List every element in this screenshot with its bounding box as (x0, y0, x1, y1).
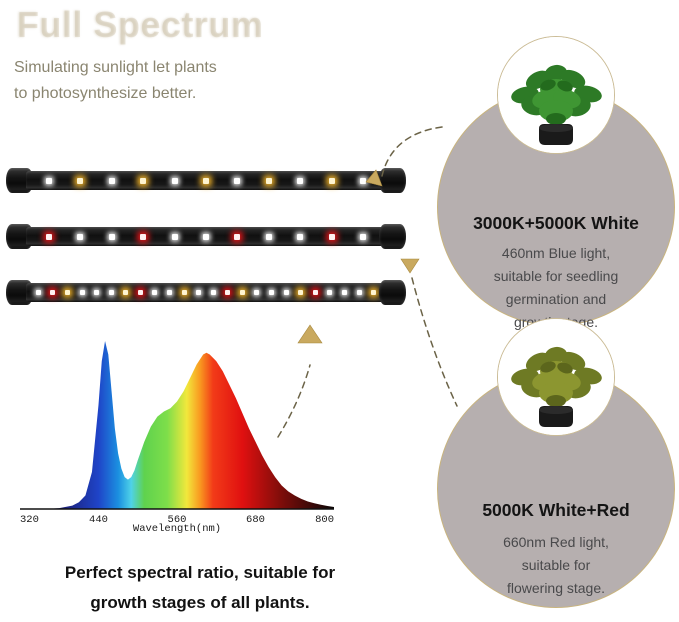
x-tick-800: 800 (315, 514, 334, 526)
led-red (329, 234, 335, 240)
x-axis-title: Wavelength(nm) (133, 523, 221, 533)
bar-tube (26, 283, 386, 302)
led-white (172, 234, 178, 240)
led-white (203, 234, 209, 240)
bar-end-cap-right (379, 224, 406, 249)
plant-illustration-green (498, 37, 614, 153)
led-amber (240, 290, 245, 295)
led-amber (77, 178, 83, 184)
led-white (109, 290, 114, 295)
led-white (266, 234, 272, 240)
plant-illustration-olive (498, 319, 614, 435)
callout-title: 5000K White+Red (437, 500, 675, 521)
plant-photo-white (497, 36, 615, 154)
infographic-canvas: Full Spectrum Full Spectrum Simulating s… (0, 0, 679, 622)
led-white (342, 290, 347, 295)
led-white (36, 290, 41, 295)
bar-end-cap-right (379, 168, 406, 193)
led-amber (182, 290, 187, 295)
led-amber (203, 178, 209, 184)
led-white (269, 290, 274, 295)
led-white (46, 178, 52, 184)
arrow-head-down-icon (401, 259, 419, 273)
led-white (109, 178, 115, 184)
led-white (80, 290, 85, 295)
led-white (234, 178, 240, 184)
led-white (254, 290, 259, 295)
led-amber (65, 290, 70, 295)
led-amber (329, 178, 335, 184)
plant-photo-red (497, 318, 615, 436)
led-bar-white (6, 168, 406, 193)
led-white (360, 178, 366, 184)
led-white (357, 290, 362, 295)
page-title: Full Spectrum (16, 2, 263, 44)
callout-title: 3000K+5000K White (437, 213, 675, 234)
bar-tube (26, 227, 386, 246)
led-white (284, 290, 289, 295)
x-tick-440: 440 (89, 514, 108, 526)
led-amber (140, 178, 146, 184)
spectrum-chart: 320440560680800 Wavelength(nm) (12, 333, 342, 533)
led-amber (371, 290, 376, 295)
led-white (152, 290, 157, 295)
page-subtitle: Simulating sunlight let plants to photos… (14, 55, 217, 107)
led-red (313, 290, 318, 295)
led-white (167, 290, 172, 295)
led-white (297, 178, 303, 184)
led-red (234, 234, 240, 240)
led-white (77, 234, 83, 240)
led-red (138, 290, 143, 295)
callout-white: 3000K+5000K White 460nm Blue light, suit… (437, 88, 675, 326)
led-red (140, 234, 146, 240)
led-red (46, 234, 52, 240)
led-white (94, 290, 99, 295)
led-red (225, 290, 230, 295)
led-red (50, 290, 55, 295)
led-white (327, 290, 332, 295)
x-tick-320: 320 (20, 514, 39, 526)
led-white (109, 234, 115, 240)
x-tick-680: 680 (246, 514, 265, 526)
led-white (172, 178, 178, 184)
led-amber (298, 290, 303, 295)
led-white (297, 234, 303, 240)
spectrum-plot: 320440560680800 Wavelength(nm) (12, 333, 342, 533)
led-white (211, 290, 216, 295)
led-amber (123, 290, 128, 295)
bottom-caption: Perfect spectral ratio, suitable for gro… (0, 558, 400, 618)
callout-red: 5000K White+Red 660nm Red light, suitabl… (437, 370, 675, 608)
led-amber (266, 178, 272, 184)
bar-end-cap-right (379, 280, 406, 305)
callout-body: 660nm Red light, suitable for flowering … (437, 531, 675, 600)
bar-tube (26, 171, 386, 190)
led-white (360, 234, 366, 240)
led-white (196, 290, 201, 295)
led-bar-full-spectrum (6, 280, 406, 305)
led-bar-white-red (6, 224, 406, 249)
